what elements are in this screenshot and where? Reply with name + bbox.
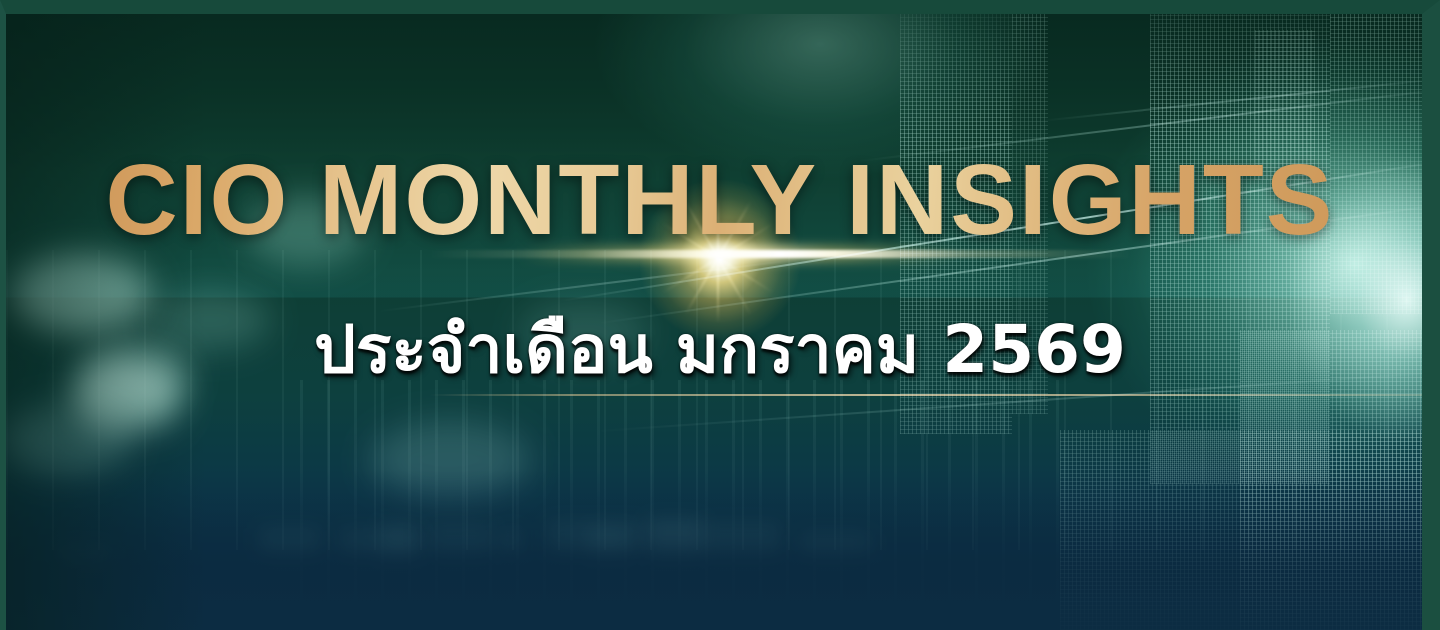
- cio-monthly-insights-banner: CIO MONTHLY INSIGHTS ประจำเดือน มกราคม 2…: [0, 0, 1440, 630]
- gold-hairline-rule: [430, 394, 1430, 396]
- banner-title-container: CIO MONTHLY INSIGHTS: [0, 150, 1440, 250]
- banner-subtitle-container: ประจำเดือน มกราคม 2569: [0, 312, 1440, 388]
- banner-subtitle: ประจำเดือน มกราคม 2569: [314, 312, 1126, 388]
- banner-title: CIO MONTHLY INSIGHTS: [105, 150, 1334, 250]
- bottom-vignette: [6, 470, 1422, 630]
